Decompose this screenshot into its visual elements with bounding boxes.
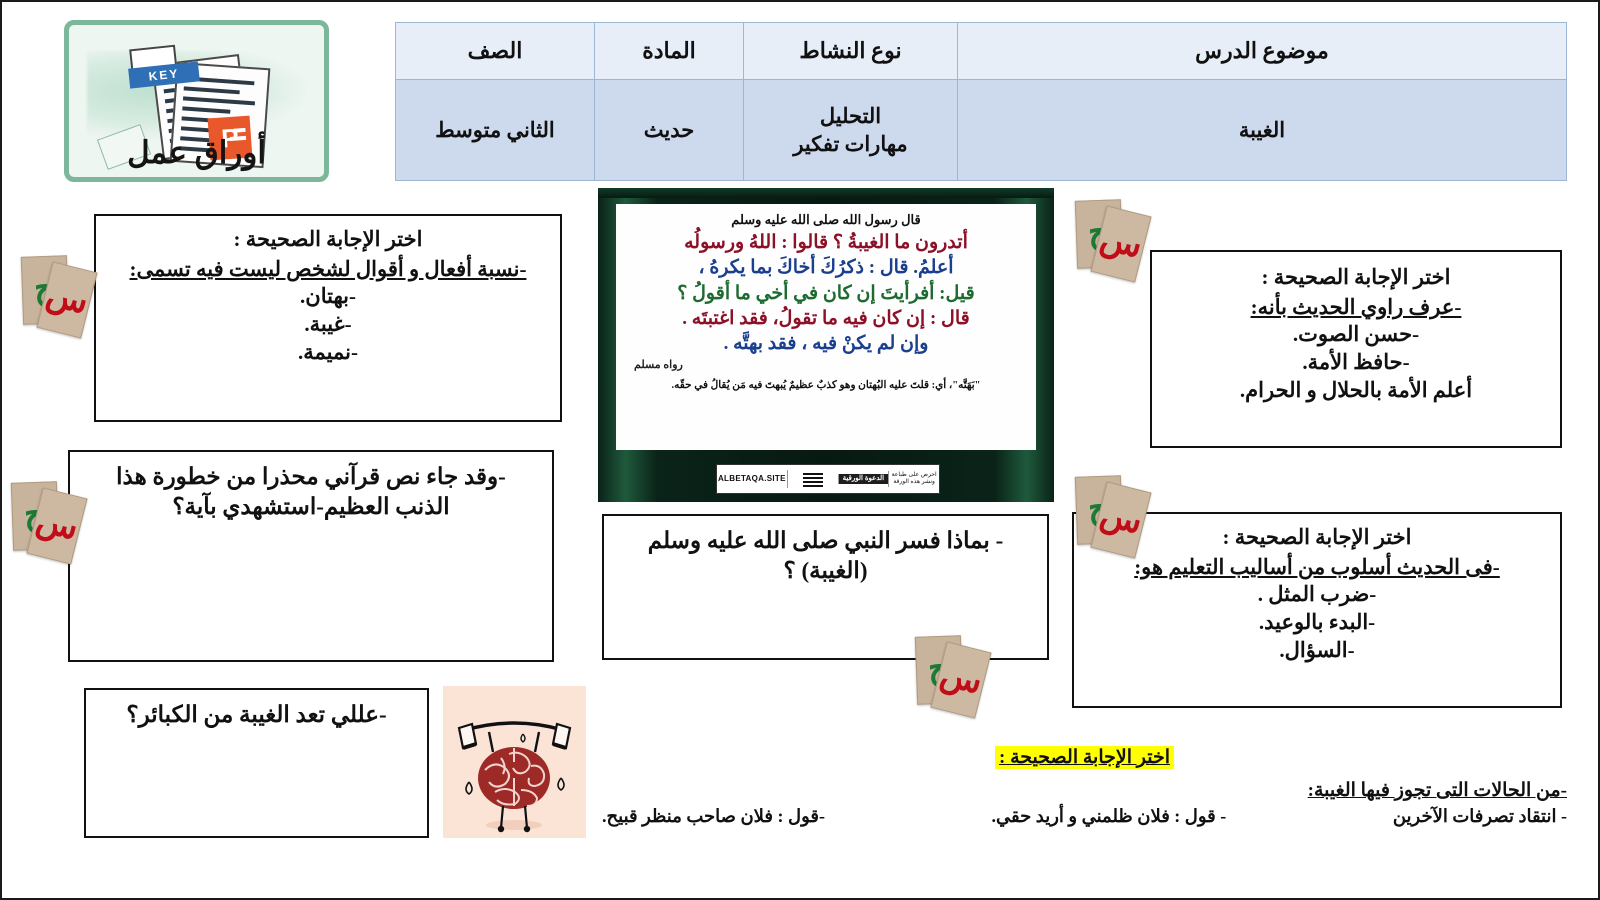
hadith-poster-image: قال رسول الله صلى الله عليه وسلم أتدرون … [598,188,1054,502]
sj-marker-verse[interactable]: ج س [10,480,84,562]
q-define-title: اختر الإجابة الصحيحة : [112,226,544,254]
cases-stem: -من الحالات التى تجوز فيها الغيبة: [602,779,1567,802]
th-lesson-subject: موضوع الدرس [958,23,1567,80]
activity-line-2: مهارات تفكير [748,130,953,158]
sj-marker-method[interactable]: ج س [1074,474,1148,556]
hadith-line-1: أتدرون ما الغيبةُ ؟ قالوا : اللهُ ورسولُ… [626,231,1026,255]
q-narrator-option-3[interactable]: أعلم الأمة بالحلال و الحرام. [1168,377,1544,405]
cases-options: -قول : فلان صاحب منظر قبيح. - قول : فلان… [602,806,1567,827]
hadith-top-bar [598,188,1054,198]
th-activity-type: نوع النشاط [744,23,958,80]
q-narrator-title: اختر الإجابة الصحيحة : [1168,264,1544,292]
footer-print-note: احرص على طباعة ونشر هذه الورقة [888,471,939,487]
hadith-line-2: أعلمُ. قال : ذكرُكَ أخاكَ بما يكرهُ ، [626,256,1026,280]
worksheet-page: KEY P أوراق عمل موضوع الدرس نوع النشاط ا… [0,0,1600,900]
footer-site: ALBETAQA.SITE [717,473,787,484]
question-box-narrator: اختر الإجابة الصحيحة : -عرف راوي الحديث … [1150,250,1562,448]
footer-qr-icon [787,470,838,488]
lesson-info-table: موضوع الدرس نوع النشاط المادة الصف الغيب… [395,22,1567,181]
q-why-text: -عللي تعد الغيبة من الكبائر؟ [102,700,411,730]
footer-brand: الدعوة الورقية [838,474,889,484]
hadith-intro: قال رسول الله صلى الله عليه وسلم [626,212,1026,228]
q-define-stem: -نسبة أفعال و أقوال لشخص ليست فيه تسمى: [112,256,544,284]
logo-title: أوراق عمل [69,135,324,171]
activity-line-1: التحليل [748,102,953,130]
q-define-option-1[interactable]: -بهتان. [112,283,544,311]
q-method-option-3[interactable]: -السؤال. [1090,637,1544,665]
q-method-option-1[interactable]: -ضرب المثل . [1090,581,1544,609]
q-verse-line-1: -وقد جاء نص قرآني محذرا من خطورة هذا [86,462,536,492]
worksheet-logo-badge: KEY P أوراق عمل [64,20,329,182]
cases-title-wrap: اختر الإجابة الصحيحة : [602,746,1567,779]
brain-illustration-svg [443,686,586,838]
q-define-option-2[interactable]: -غيبة. [112,311,544,339]
hadith-line-3: قيل: أفرأيتَ إن كان في أخي ما أقولُ ؟ [626,282,1026,306]
question-box-why-major-sin: -عللي تعد الغيبة من الكبائر؟ [84,688,429,838]
sj-marker-define[interactable]: ج س [20,254,94,336]
q-verse-line-2: الذنب العظيم-استشهدي بآية؟ [86,492,536,522]
question-box-quran-verse: -وقد جاء نص قرآني محذرا من خطورة هذا الذ… [68,450,554,662]
cases-option-3[interactable]: - انتقاد تصرفات الآخرين [1393,806,1567,827]
td-activity-type: التحليل مهارات تفكير [744,80,958,181]
brain-lifting-barbell-image [443,686,586,838]
q-narrator-option-1[interactable]: -حسن الصوت. [1168,321,1544,349]
td-lesson-subject: الغيبة [958,80,1567,181]
q-method-option-2[interactable]: -البدء بالوعيد. [1090,609,1544,637]
td-grade: الثاني متوسط [396,80,595,181]
cases-title: اختر الإجابة الصحيحة : [995,746,1174,769]
cases-option-1[interactable]: -قول : فلان صاحب منظر قبيح. [602,806,825,827]
q-narrator-option-2[interactable]: -حافظ الأمة. [1168,349,1544,377]
th-material: المادة [595,23,744,80]
table-row: الغيبة التحليل مهارات تفكير حديث الثاني … [396,80,1567,181]
th-grade: الصف [396,23,595,80]
sj-marker-interpret[interactable]: ج س [914,634,988,716]
q-interpret-line-2: (الغيبة) ؟ [620,556,1031,586]
td-material: حديث [595,80,744,181]
table-header-row: موضوع الدرس نوع النشاط المادة الصف [396,23,1567,80]
hadith-line-4: قال : إن كان فيه ما تقولُ، فقد اغتبتَه . [626,307,1026,331]
hadith-text-sheet: قال رسول الله صلى الله عليه وسلم أتدرون … [616,204,1036,450]
q-define-option-3[interactable]: -نميمة. [112,339,544,367]
cases-option-2[interactable]: - قول : فلان ظلمني و أريد حقي. [992,806,1227,827]
hadith-line-5: وإن لم يكنْ فيه ، فقد بهتَّه . [626,332,1026,356]
cases-allowed-ghibah-section: اختر الإجابة الصحيحة : -من الحالات التى … [602,746,1567,856]
q-interpret-line-1: - بماذا فسر النبي صلى الله عليه وسلم [620,526,1031,556]
sj-marker-narrator[interactable]: ج س [1074,198,1148,280]
q-method-title: اختر الإجابة الصحيحة : [1090,524,1544,552]
hadith-footer-bar: احرص على طباعة ونشر هذه الورقة الدعوة ال… [716,464,940,494]
hadith-explanatory-note: "بَهَتَّه"، أي: قلتَ عليه البُهتان وهو ك… [626,379,1026,393]
hadith-source: رواه مسلم [634,358,1026,371]
question-box-define-ghibah: اختر الإجابة الصحيحة : -نسبة أفعال و أقو… [94,214,562,422]
q-narrator-stem: -عرف راوي الحديث بأنه: [1168,294,1544,322]
q-method-stem: -فى الحديث أسلوب من أساليب التعليم هو: [1090,554,1544,582]
